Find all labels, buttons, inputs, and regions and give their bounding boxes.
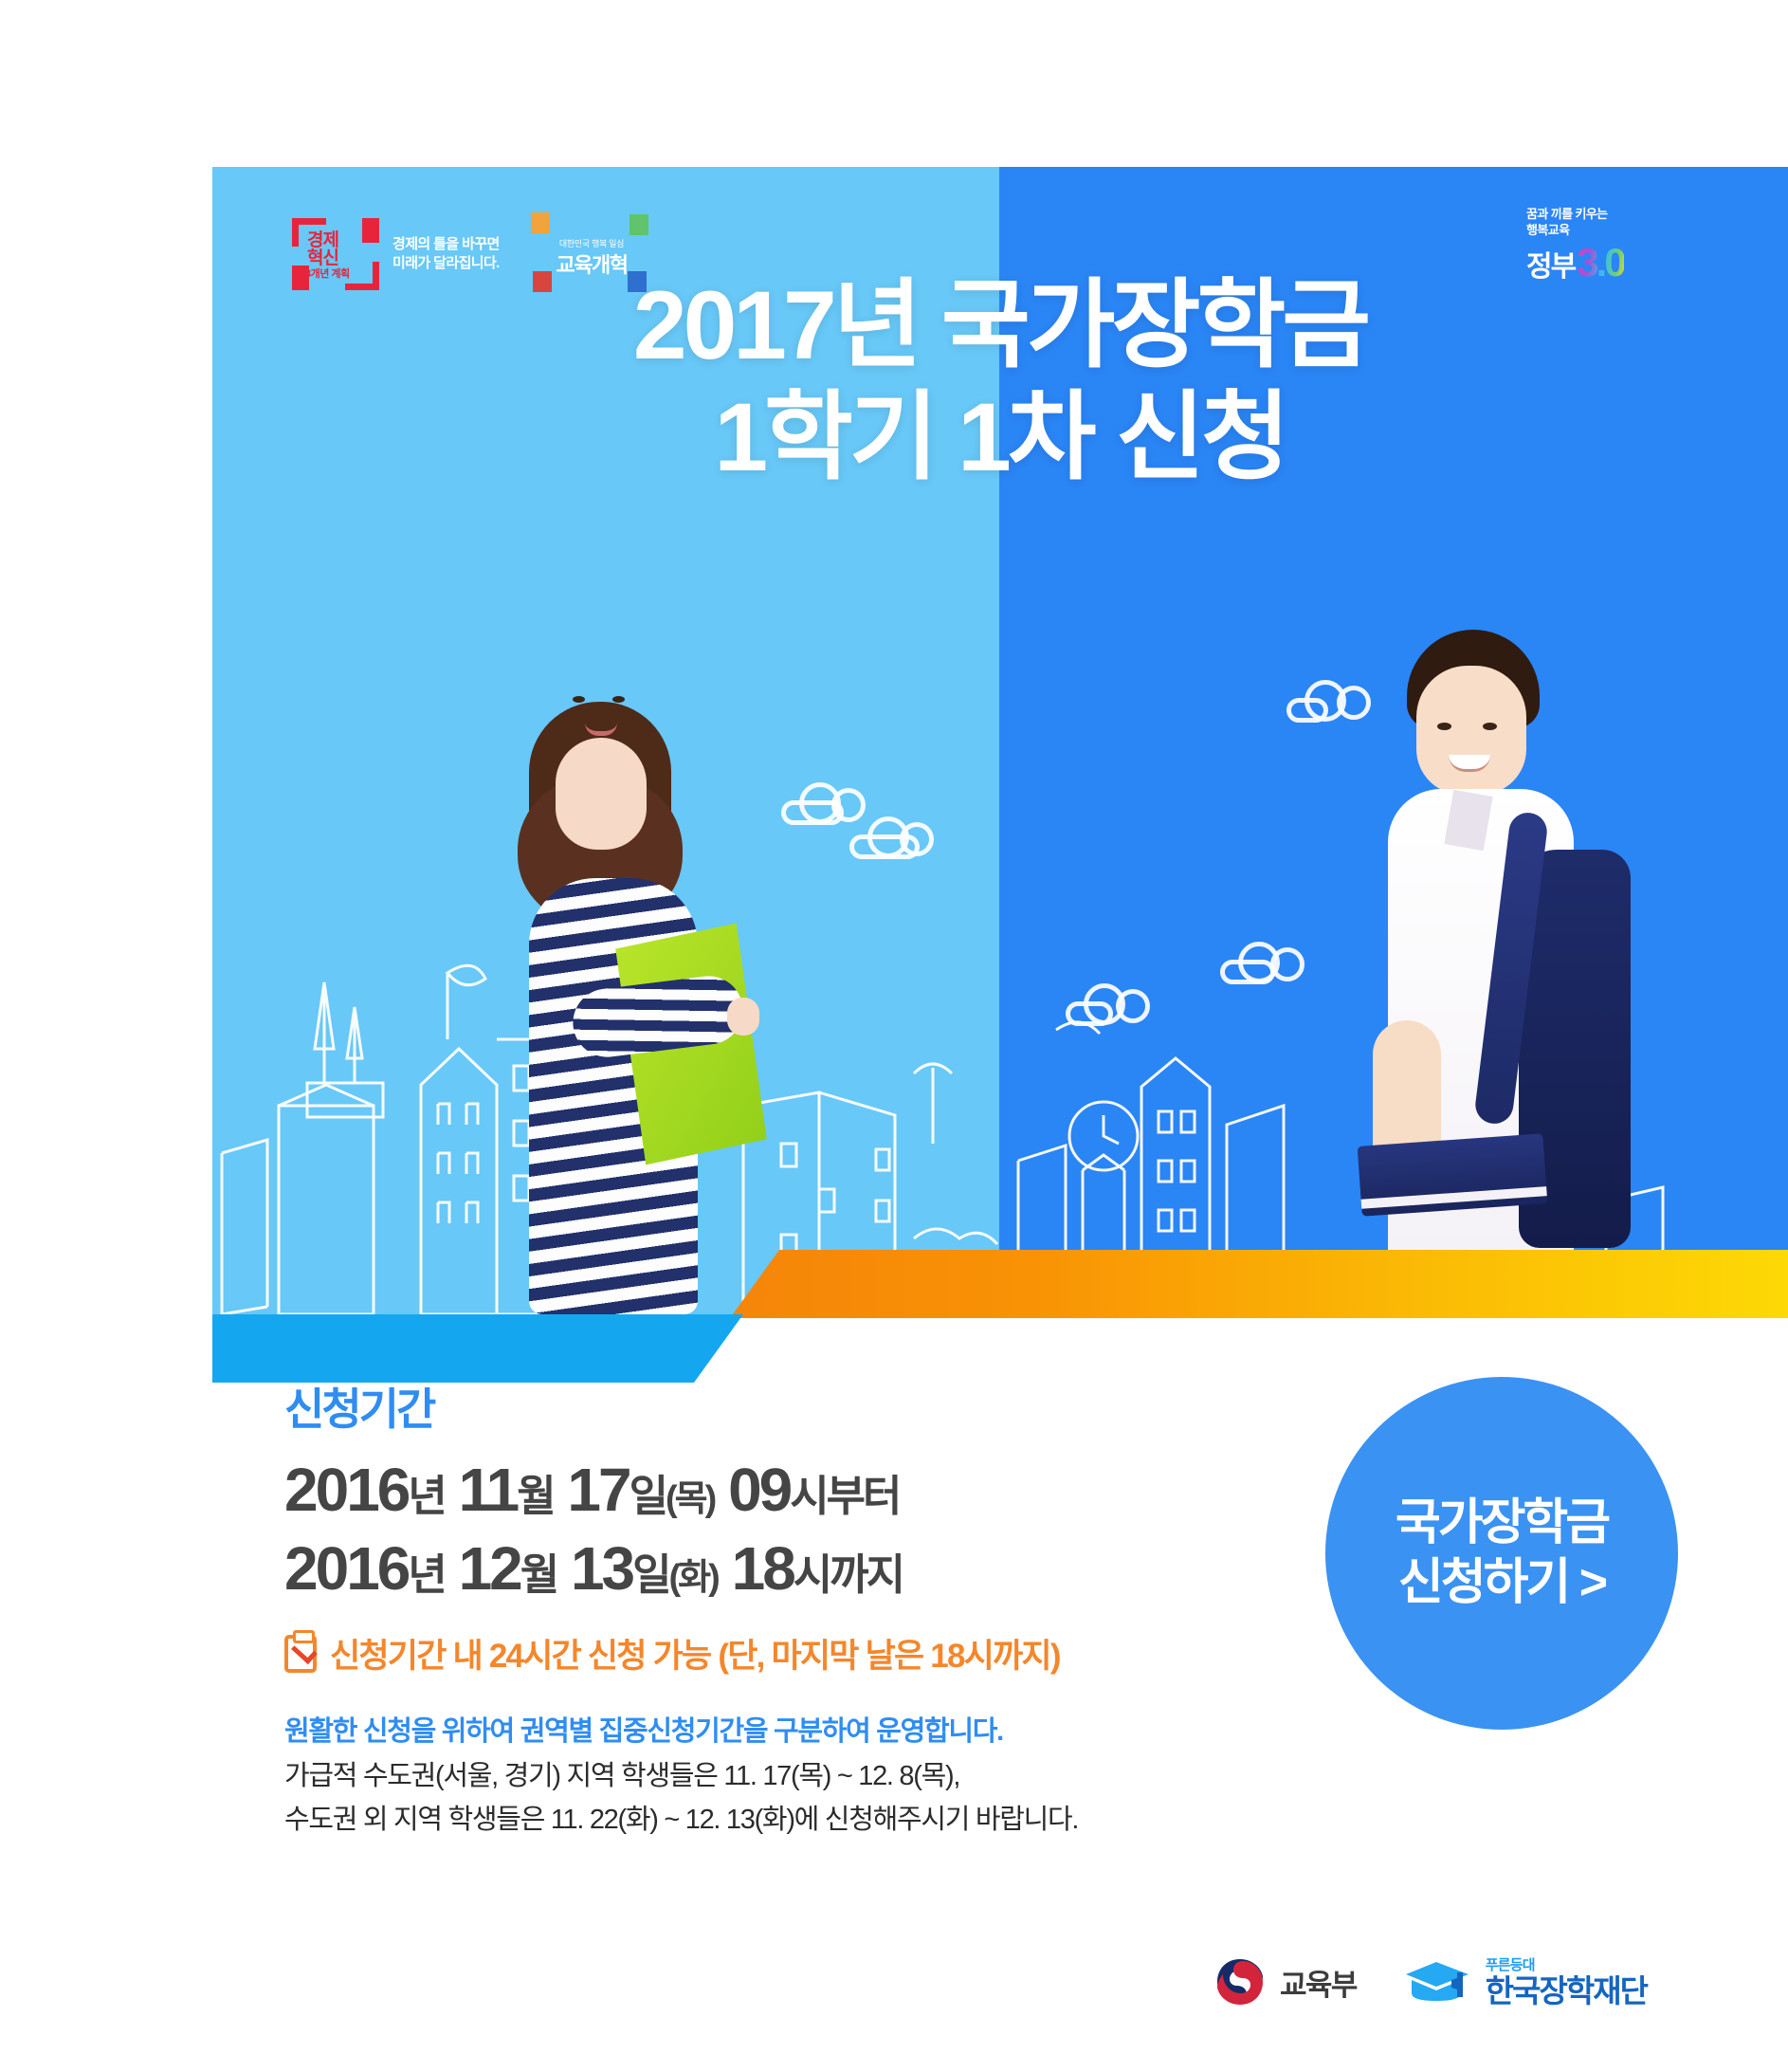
poster-root: EDU xyxy=(0,0,1788,2072)
student-female-photo xyxy=(497,651,781,1314)
end-hour: 18 xyxy=(732,1534,794,1603)
cloud-icon xyxy=(849,834,920,859)
decorative-band-blue xyxy=(212,1314,743,1383)
page-title: 2017년 국가장학금 1학기 1차 신청 xyxy=(212,269,1788,494)
cta-line2: 신청하기 > xyxy=(1398,1553,1605,1613)
taegeuk-icon xyxy=(1213,1955,1267,2008)
cta-line1: 국가장학금 xyxy=(1396,1494,1608,1553)
econ-tagline-line1: 경제의 틀을 바꾸면 xyxy=(392,236,500,252)
logo-kosaf: 푸른등대 한국장학재단 xyxy=(1402,1957,1647,2007)
period-start-line: 2016년 11월 17일(목) 09시부터 xyxy=(284,1451,1327,1530)
student-male-photo xyxy=(1350,613,1663,1314)
start-year-unit: 년 xyxy=(408,1472,444,1520)
econ-mark-line1: 경제 xyxy=(307,230,338,250)
end-day-of-week: (화) xyxy=(669,1558,718,1598)
guidance-line-1: 원활한 신청을 위하여 권역별 집중신청기간을 구분하여 운영합니다. xyxy=(284,1710,1327,1753)
gov-tagline-line1: 꿈과 끼를 키우는 xyxy=(1526,207,1608,221)
application-period-section: 신청기간 2016년 11월 17일(목) 09시부터 2016년 12월 13… xyxy=(284,1375,1327,1843)
kosaf-name: 한국장학재단 xyxy=(1486,1975,1647,2007)
kosaf-small-label: 푸른등대 xyxy=(1486,1958,1647,1972)
edu-square-orange-icon xyxy=(531,212,550,233)
logo-ministry-of-education: 교육부 xyxy=(1213,1955,1357,2008)
start-year: 2016 xyxy=(284,1456,408,1524)
period-heading: 신청기간 xyxy=(284,1375,1327,1438)
start-day: 17 xyxy=(567,1456,629,1524)
start-month: 11 xyxy=(459,1456,518,1524)
gov-tagline-line2: 행복교육 xyxy=(1526,223,1569,237)
footer-logos: 교육부 푸른등대 한국장학재단 xyxy=(1213,1934,1706,2029)
edu-square-green-icon xyxy=(629,214,648,235)
start-day-unit: 일 xyxy=(629,1472,666,1520)
period-end-line: 2016년 12월 13일(화) 18시까지 xyxy=(284,1530,1327,1608)
end-month-unit: 월 xyxy=(520,1550,556,1599)
start-hour: 09 xyxy=(728,1456,790,1524)
page-title-line1: 2017년 국가장학금 xyxy=(633,271,1367,379)
hero-banner: EDU xyxy=(212,167,1788,1314)
apply-scholarship-button[interactable]: 국가장학금 신청하기 > xyxy=(1325,1377,1678,1730)
decorative-band-orange xyxy=(730,1250,1788,1318)
end-hour-unit: 시까지 xyxy=(794,1550,903,1599)
guidance-line-2: 가급적 수도권(서울, 경기) 지역 학생들은 11. 17(목) ~ 12. … xyxy=(284,1754,1327,1798)
cloud-icon xyxy=(1286,698,1328,723)
economic-innovation-tagline: 경제의 틀을 바꾸면 미래가 달라집니다. xyxy=(392,235,500,273)
checklist-check-icon xyxy=(284,1635,317,1673)
end-day: 13 xyxy=(571,1534,632,1603)
start-day-of-week: (목) xyxy=(666,1479,714,1519)
end-year: 2016 xyxy=(284,1534,408,1603)
start-hour-unit: 시부터 xyxy=(790,1472,899,1520)
end-day-unit: 일 xyxy=(632,1550,668,1599)
cloud-icon xyxy=(781,800,844,825)
availability-note: 신청기간 내 24시간 신청 가능 (단, 마지막 날은 18시까지) xyxy=(284,1629,1327,1678)
end-year-unit: 년 xyxy=(408,1550,444,1599)
guidance-line-3: 수도권 외 지역 학생들은 11. 22(화) ~ 12. 13(화)에 신청해… xyxy=(284,1798,1327,1842)
page-title-line2: 1학기 1차 신청 xyxy=(212,381,1788,493)
ministry-name: 교육부 xyxy=(1280,1961,1357,2004)
end-month: 12 xyxy=(459,1534,520,1603)
availability-note-text: 신청기간 내 24시간 신청 가능 (단, 마지막 날은 18시까지) xyxy=(330,1629,1060,1678)
graduation-cap-icon xyxy=(1402,1957,1474,2007)
regional-guidance-paragraph: 원활한 신청을 위하여 권역별 집중신청기간을 구분하여 운영합니다. 가급적 … xyxy=(284,1710,1327,1842)
start-month-unit: 월 xyxy=(517,1472,553,1520)
